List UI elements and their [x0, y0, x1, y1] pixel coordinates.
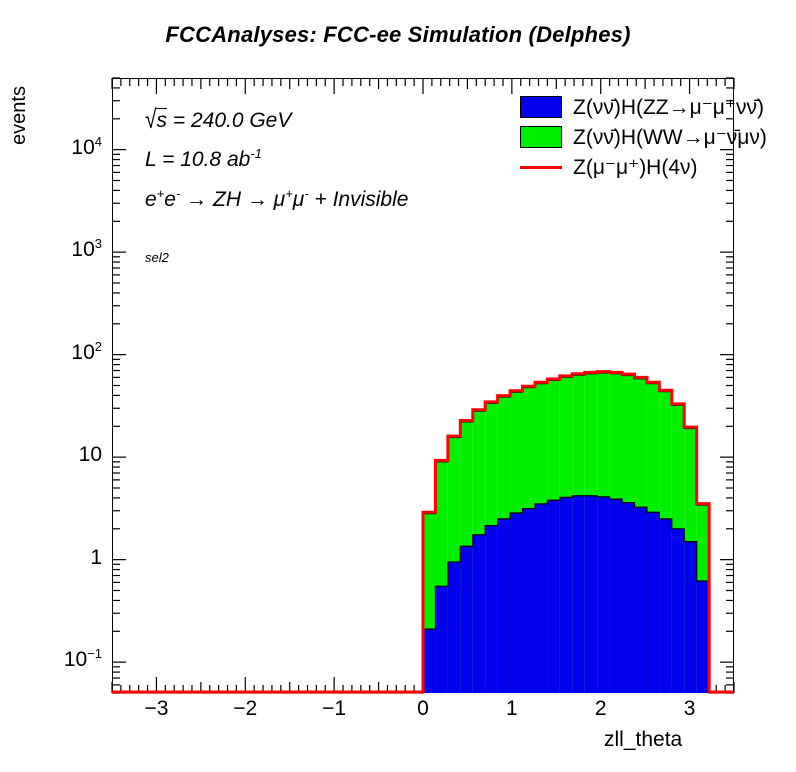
- x-tick-label: 1: [490, 697, 534, 721]
- proc-b: e: [164, 188, 176, 211]
- annotation-energy: √s = 240.0 GeV: [145, 108, 291, 133]
- x-tick-label: 0: [401, 697, 445, 721]
- proc-mu1: μ: [274, 188, 286, 211]
- legend-swatch-zz: [520, 96, 562, 118]
- y-tick-label: 102: [71, 342, 102, 363]
- legend-entry-zz: Z(νν̄)H(ZZ→μ⁻μ⁺νν̄): [520, 92, 796, 122]
- x-tick-label: −1: [312, 697, 356, 721]
- x-tick-label: −2: [223, 697, 267, 721]
- annotation-luminosity-base: L = 10.8 ab: [145, 148, 250, 171]
- annotation-energy-var: s: [156, 108, 168, 133]
- legend-line-mumu: [520, 166, 562, 169]
- proc-c: → ZH →: [180, 188, 273, 211]
- legend-entry-ww: Z(νν̄)H(WW→μ⁻ν̄μν): [520, 122, 796, 152]
- y-tick-label: 1: [90, 547, 102, 568]
- plot-canvas: FCCAnalyses: FCC-ee Simulation (Delphes)…: [0, 0, 796, 772]
- annotation-luminosity-exp: -1: [250, 146, 262, 161]
- page-title: FCCAnalyses: FCC-ee Simulation (Delphes): [0, 22, 796, 48]
- proc-a: e: [145, 188, 157, 211]
- proc-sup3: +: [285, 186, 293, 201]
- y-tick-label: 104: [71, 137, 102, 158]
- proc-mu2: μ: [293, 188, 305, 211]
- y-tick-label: 10: [79, 444, 102, 465]
- y-tick-label: 10−1: [64, 649, 102, 670]
- x-tick-label: −3: [134, 697, 178, 721]
- annotation-process: e+e- → ZH → μ+μ- + Invisible: [145, 188, 408, 212]
- annotation-luminosity: L = 10.8 ab-1: [145, 148, 262, 172]
- legend-swatch-ww: [520, 126, 562, 148]
- y-tick-label: 103: [71, 239, 102, 260]
- annotation-selection: sel2: [145, 250, 169, 265]
- x-tick-label: 3: [668, 697, 712, 721]
- x-axis-title: zll_theta: [604, 728, 682, 752]
- legend-label-mumu: Z(μ⁻μ⁺)H(4ν): [573, 157, 698, 178]
- legend-label-zz: Z(νν̄)H(ZZ→μ⁻μ⁺νν̄): [573, 97, 764, 118]
- proc-d: + Invisible: [309, 188, 409, 211]
- annotation-energy-value: = 240.0 GeV: [167, 109, 291, 132]
- y-axis-title: events: [8, 86, 31, 145]
- legend-swatch-mumu: [520, 156, 562, 178]
- legend-entry-mumu: Z(μ⁻μ⁺)H(4ν): [520, 152, 796, 182]
- legend-label-ww: Z(νν̄)H(WW→μ⁻ν̄μν): [573, 127, 767, 148]
- legend: Z(νν̄)H(ZZ→μ⁻μ⁺νν̄) Z(νν̄)H(WW→μ⁻ν̄μν) Z…: [520, 92, 796, 182]
- x-tick-label: 2: [579, 697, 623, 721]
